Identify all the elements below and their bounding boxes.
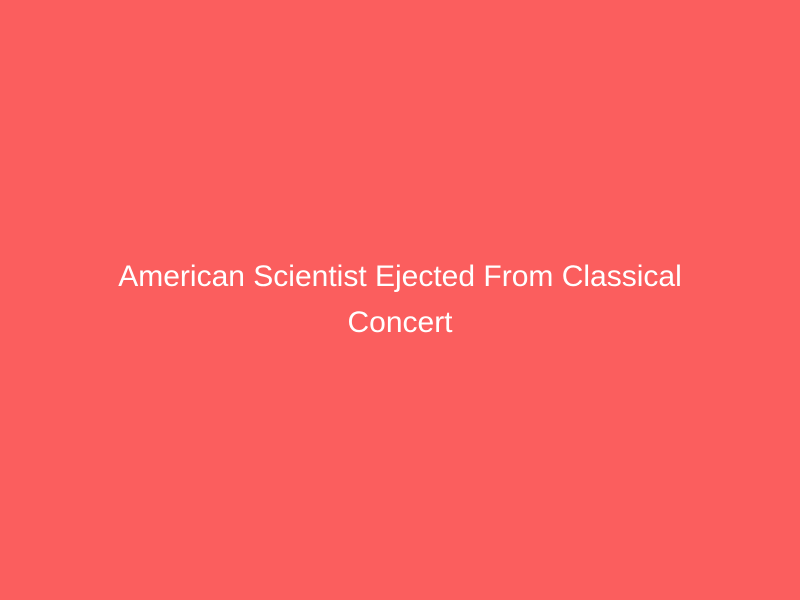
page-background: American Scientist Ejected From Classica…: [0, 0, 800, 600]
page-title: American Scientist Ejected From Classica…: [85, 254, 715, 346]
headline-block: American Scientist Ejected From Classica…: [85, 254, 715, 346]
